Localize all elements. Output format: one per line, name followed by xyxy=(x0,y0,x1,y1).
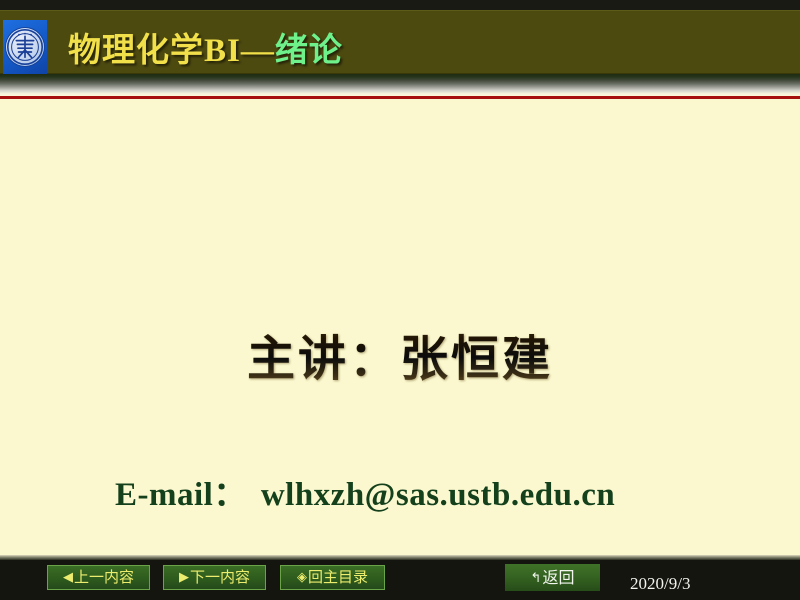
page-title-main: 物理化学BI— xyxy=(68,33,275,69)
top-black-strip xyxy=(0,0,800,10)
triangle-right-icon: ▶ xyxy=(179,570,189,585)
triangle-left-icon: ◀ xyxy=(63,570,73,585)
page-title-suffix: 绪论 xyxy=(275,33,343,69)
email-address[interactable]: wlhxzh@sas.ustb.edu.cn xyxy=(261,477,615,513)
slide-body: 主讲：张恒建 主讲：张恒建 E-mail：wlhxzh@sas.ustb.edu… xyxy=(0,99,800,555)
presenter-line: 主讲：张恒建 xyxy=(0,319,800,389)
email-label: E-mail： xyxy=(115,477,247,513)
return-button[interactable]: ↰返回 xyxy=(505,564,600,591)
main-menu-button[interactable]: ◈回主目录 xyxy=(280,565,385,590)
emblem-glyph xyxy=(6,28,44,66)
return-arrow-icon: ↰ xyxy=(531,571,542,586)
main-menu-label: 回主目录 xyxy=(308,568,368,586)
header-gradient-divider xyxy=(0,74,800,96)
previous-content-label: 上一内容 xyxy=(74,568,134,586)
slide-canvas: 物理化学BI—绪论 主讲：张恒建 主讲：张恒建 E-mail：wlhxzh@sa… xyxy=(0,0,800,600)
title-bar: 物理化学BI—绪论 xyxy=(0,10,800,74)
return-button-label: 返回 xyxy=(542,568,574,587)
footer-date: 2020/9/3 xyxy=(630,574,690,594)
next-content-label: 下一内容 xyxy=(190,568,250,586)
diamond-icon: ◈ xyxy=(297,570,307,585)
previous-content-button[interactable]: ◀上一内容 xyxy=(47,565,150,590)
email-line: E-mail：wlhxzh@sas.ustb.edu.cn xyxy=(115,467,615,515)
next-content-button[interactable]: ▶下一内容 xyxy=(163,565,266,590)
footer-top-highlight xyxy=(0,555,800,560)
ustb-university-emblem-icon xyxy=(3,20,47,82)
